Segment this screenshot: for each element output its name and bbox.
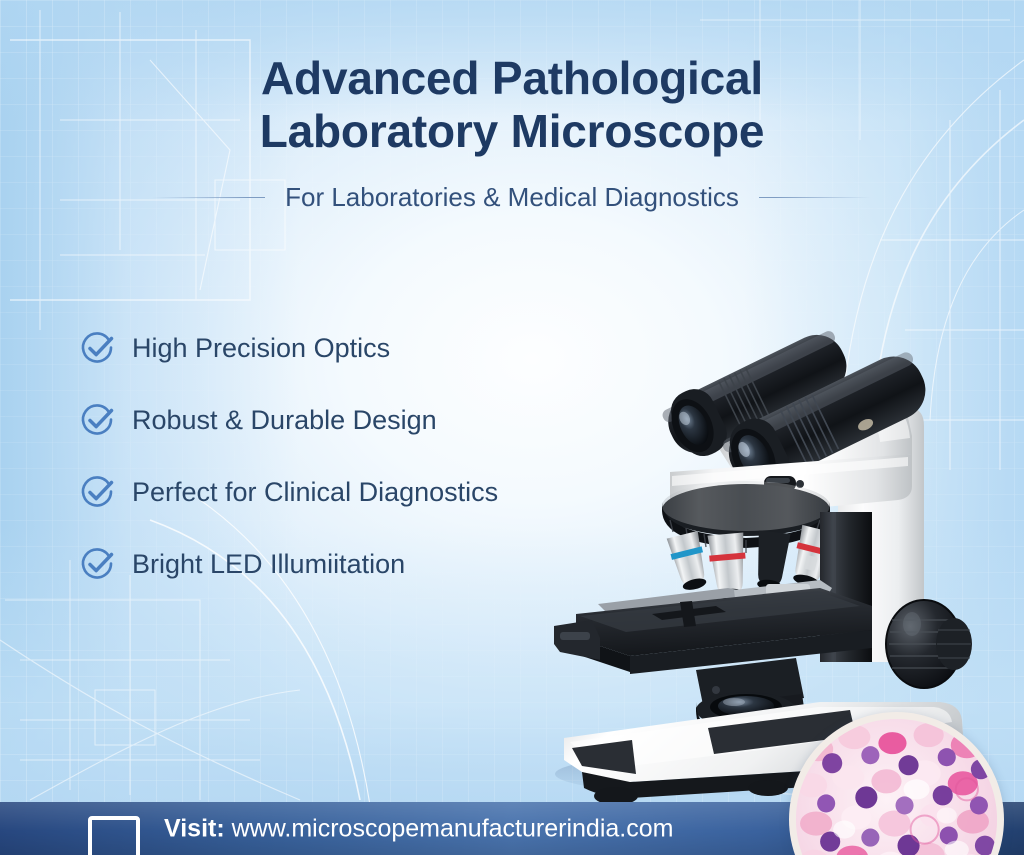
visit-url-text: Visit: www.microscopemanufacturerindia.c…	[164, 814, 673, 843]
feature-label: High Precision Optics	[132, 333, 390, 364]
subtitle-row: For Laboratories & Medical Diagnostics	[0, 182, 1024, 213]
micrograph-cells	[796, 719, 997, 855]
feature-label: Robust & Durable Design	[132, 405, 437, 436]
page-subtitle: For Laboratories & Medical Diagnostics	[285, 182, 739, 213]
feature-item: High Precision Optics	[78, 326, 498, 370]
page-title: Advanced Pathological Laboratory Microsc…	[0, 52, 1024, 158]
circle-check-icon	[78, 328, 118, 368]
subtitle-rule-left	[153, 197, 265, 198]
title-line-1: Advanced Pathological	[0, 52, 1024, 105]
square-outline-icon	[88, 816, 140, 855]
micrograph-inset	[789, 712, 1004, 855]
circle-check-icon	[78, 544, 118, 584]
subtitle-rule-right	[759, 197, 871, 198]
feature-item: Bright LED Illumiitation	[78, 542, 498, 586]
website-url[interactable]: www.microscopemanufacturerindia.com	[232, 814, 674, 842]
feature-list: High Precision Optics Robust & Durable D…	[78, 326, 498, 586]
feature-label: Perfect for Clinical Diagnostics	[132, 477, 498, 508]
feature-item: Perfect for Clinical Diagnostics	[78, 470, 498, 514]
circle-check-icon	[78, 472, 118, 512]
feature-item: Robust & Durable Design	[78, 398, 498, 442]
visit-label: Visit:	[164, 814, 225, 842]
title-line-2: Laboratory Microscope	[0, 105, 1024, 158]
circle-check-icon	[78, 400, 118, 440]
feature-label: Bright LED Illumiitation	[132, 549, 405, 580]
header: Advanced Pathological Laboratory Microsc…	[0, 52, 1024, 213]
blood-smear-micrograph	[796, 719, 997, 855]
